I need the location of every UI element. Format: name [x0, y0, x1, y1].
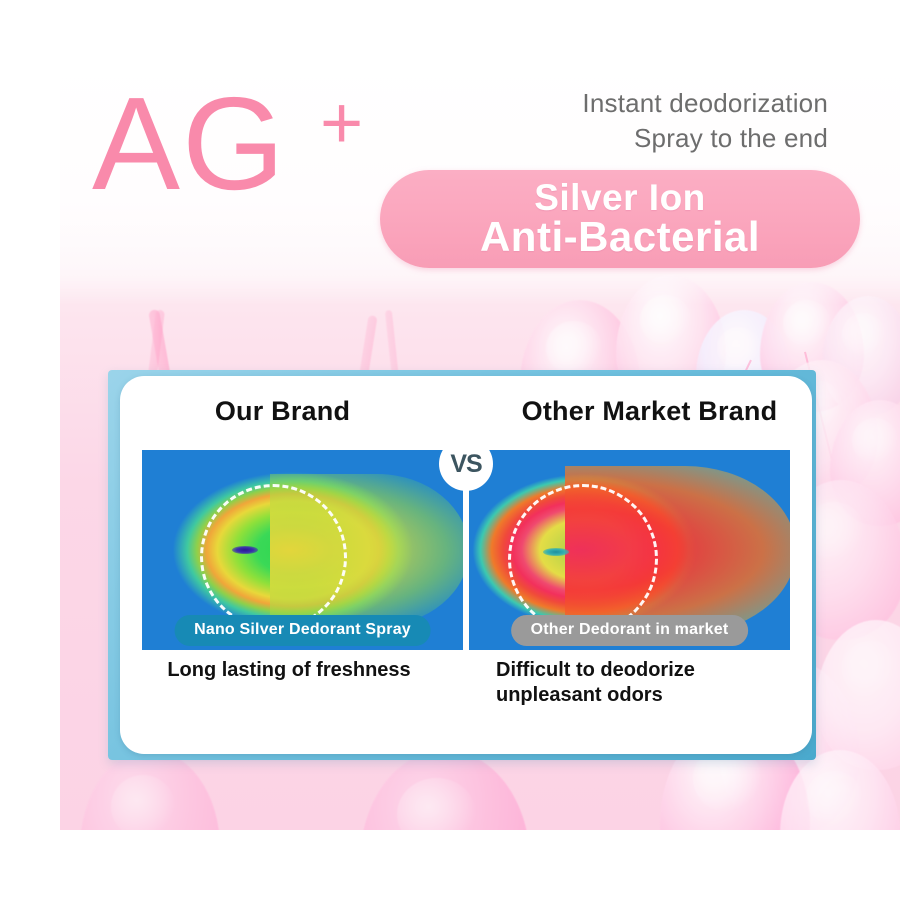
- silver-ion-badge: Silver Ion Anti-Bacterial: [380, 170, 860, 268]
- balloon-decoration: [360, 750, 530, 830]
- thermal-image-other-brand: Other Dedorant in market: [469, 450, 790, 650]
- comparison-card-panel: Our Brand Other Market Brand Nano Silver…: [120, 376, 812, 754]
- tagline-line-2: Spray to the end: [582, 121, 828, 156]
- badge-line-1: Silver Ion: [534, 179, 706, 217]
- thermal-image-our-brand: Nano Silver Dedorant Spray: [142, 450, 463, 650]
- balloon-decoration: [80, 750, 220, 830]
- caption-our-brand: Long lasting of freshness: [142, 658, 454, 708]
- column-title-our-brand: Our Brand: [120, 396, 473, 427]
- comparison-card: Our Brand Other Market Brand Nano Silver…: [108, 370, 816, 760]
- brand-logo: AG: [92, 78, 287, 210]
- dashed-highlight-ring: [508, 484, 658, 634]
- dashed-highlight-ring: [200, 484, 347, 630]
- badge-line-2: Anti-Bacterial: [480, 216, 760, 259]
- column-title-other-brand: Other Market Brand: [473, 396, 812, 427]
- comparison-captions: Long lasting of freshness Difficult to d…: [142, 658, 790, 708]
- vs-badge: VS: [439, 437, 493, 491]
- brand-logo-plus-icon: +: [320, 86, 363, 160]
- caption-other-brand: Difficult to deodorizeunpleasant odors: [460, 658, 790, 708]
- pill-label-other-brand: Other Dedorant in market: [511, 615, 749, 646]
- pill-label-our-brand: Nano Silver Dedorant Spray: [174, 615, 431, 646]
- poster-canvas: AG + Instant deodorization Spray to the …: [0, 0, 900, 900]
- comparison-titles: Our Brand Other Market Brand: [120, 396, 812, 427]
- tagline-line-1: Instant deodorization: [582, 86, 828, 121]
- tagline: Instant deodorization Spray to the end: [582, 86, 828, 156]
